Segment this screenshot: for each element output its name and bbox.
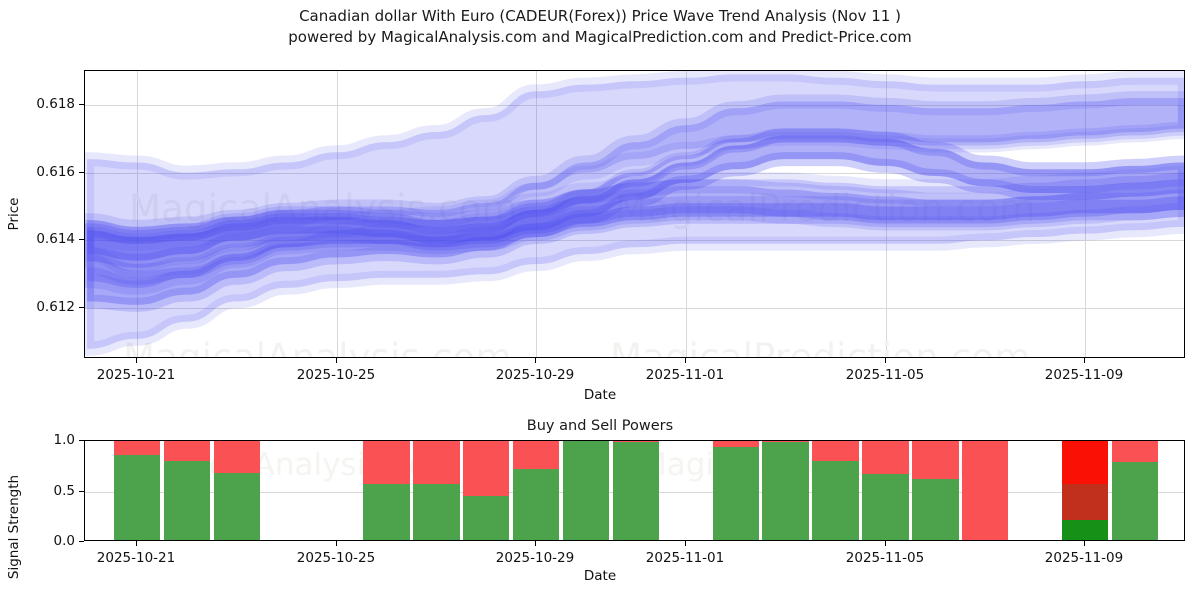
price-y-axis-label: Price <box>6 198 22 231</box>
signal-bar[interactable] <box>214 440 260 540</box>
signal-y-axis-label: Signal Strength <box>6 475 22 579</box>
signal-y-tick-mark <box>79 541 84 542</box>
signal-bar-segment-buy <box>762 442 808 540</box>
signal-bar-segment-sell <box>962 440 1008 540</box>
signal-bar[interactable] <box>1062 440 1108 540</box>
signal-bar[interactable] <box>1112 440 1158 540</box>
signal-bar[interactable] <box>413 440 459 540</box>
price-y-tick: 0.614 <box>36 231 75 247</box>
signal-x-axis-label: Date <box>584 568 616 584</box>
signal-bar-segment-buy <box>463 496 509 540</box>
page-title: Canadian dollar With Euro (CADEUR(Forex)… <box>0 6 1200 48</box>
signal-y-tick: 1.0 <box>54 432 75 448</box>
signal-bar-segment-buy <box>563 440 609 540</box>
signal-bar-segment-sell <box>463 440 509 496</box>
signal-bar-segment-sell <box>413 440 459 484</box>
signal-x-tick-mark <box>535 541 536 546</box>
price-x-axis-label: Date <box>584 387 616 403</box>
signal-x-tick-mark <box>1084 541 1085 546</box>
price-x-tick-mark <box>336 358 337 363</box>
signal-bar-segment-buy <box>1112 462 1158 540</box>
signal-bar-segment-sell <box>912 440 958 479</box>
signal-x-tick-mark <box>336 541 337 546</box>
signal-bar-segment-sell <box>713 440 759 447</box>
signal-bar[interactable] <box>762 440 808 540</box>
signal-bar[interactable] <box>912 440 958 540</box>
signal-x-tick: 2025-11-05 <box>846 550 924 566</box>
signal-bar-segment-buy <box>413 484 459 540</box>
price-x-tick-mark <box>136 358 137 363</box>
signal-x-tick: 2025-10-25 <box>297 550 375 566</box>
signal-bar[interactable] <box>114 440 160 540</box>
signal-bar-segment-buy <box>164 461 210 540</box>
signal-bar-segment-buy <box>862 474 908 540</box>
signal-x-tick: 2025-11-09 <box>1045 550 1123 566</box>
price-x-tick-mark <box>535 358 536 363</box>
signal-bar-segment-buy <box>812 461 858 540</box>
signal-bar[interactable] <box>962 440 1008 540</box>
signal-x-tick: 2025-10-29 <box>496 550 574 566</box>
signal-bar-segment-bright-sell <box>1062 440 1108 484</box>
signal-bar-segment-sell <box>1112 440 1158 462</box>
signal-bar-segment-strong-sell <box>1062 484 1108 519</box>
signal-bar-segment-buy <box>912 479 958 540</box>
price-x-tick-mark <box>685 358 686 363</box>
price-x-tick: 2025-10-25 <box>297 367 375 383</box>
signal-bar-segment-buy <box>114 455 160 540</box>
signal-bar-segment-buy <box>214 473 260 540</box>
price-x-tick-mark <box>885 358 886 363</box>
signal-bar[interactable] <box>463 440 509 540</box>
signal-bar-segment-sell <box>613 440 659 442</box>
signal-y-tick: 0.0 <box>54 533 75 549</box>
price-x-tick: 2025-11-09 <box>1045 367 1123 383</box>
signal-bar[interactable] <box>862 440 908 540</box>
title-line-1: Canadian dollar With Euro (CADEUR(Forex)… <box>0 6 1200 27</box>
signal-bar-segment-buy <box>363 484 409 540</box>
signal-bar[interactable] <box>613 440 659 540</box>
signal-bar[interactable] <box>363 440 409 540</box>
signal-x-tick: 2025-11-01 <box>646 550 724 566</box>
signal-chart-title: Buy and Sell Powers <box>0 418 1200 434</box>
signal-bar[interactable] <box>812 440 858 540</box>
signal-bar-segment-sell <box>762 440 808 442</box>
price-x-tick: 2025-10-29 <box>496 367 574 383</box>
price-x-tick-mark <box>1084 358 1085 363</box>
price-y-tick: 0.612 <box>36 299 75 315</box>
signal-bar-segment-buy <box>713 447 759 540</box>
price-x-tick: 2025-11-05 <box>846 367 924 383</box>
signal-bar-segment-sell <box>164 440 210 461</box>
signal-bar[interactable] <box>713 440 759 540</box>
price-x-tick: 2025-11-01 <box>646 367 724 383</box>
signal-x-tick: 2025-10-21 <box>97 550 175 566</box>
price-y-tick: 0.616 <box>36 164 75 180</box>
signal-bar-segment-sell <box>214 440 260 473</box>
price-wave-bands <box>85 71 1185 358</box>
signal-bar[interactable] <box>563 440 609 540</box>
signal-x-tick-mark <box>885 541 886 546</box>
signal-chart-plot-area: MagicalAnalysis.com MagicalPrediction.co… <box>84 440 1185 541</box>
signal-x-tick-mark <box>685 541 686 546</box>
signal-bar-segment-sell <box>114 440 160 455</box>
signal-bar-segment-sell <box>812 440 858 461</box>
price-chart-plot-area: MagicalAnalysis.com MagicalPrediction.co… <box>84 70 1185 358</box>
signal-bar[interactable] <box>164 440 210 540</box>
signal-y-tick: 0.5 <box>54 483 75 499</box>
chart-page: Canadian dollar With Euro (CADEUR(Forex)… <box>0 0 1200 600</box>
signal-bar-segment-strong-buy <box>1062 520 1108 540</box>
signal-bar-segment-buy <box>613 442 659 540</box>
signal-bar-segment-sell <box>363 440 409 484</box>
price-x-tick: 2025-10-21 <box>97 367 175 383</box>
price-y-tick: 0.618 <box>36 96 75 112</box>
signal-bar-segment-buy <box>513 469 559 540</box>
signal-bar-segment-sell <box>513 440 559 469</box>
title-line-2: powered by MagicalAnalysis.com and Magic… <box>0 27 1200 48</box>
signal-bar-segment-sell <box>862 440 908 474</box>
signal-x-tick-mark <box>136 541 137 546</box>
signal-bar[interactable] <box>513 440 559 540</box>
